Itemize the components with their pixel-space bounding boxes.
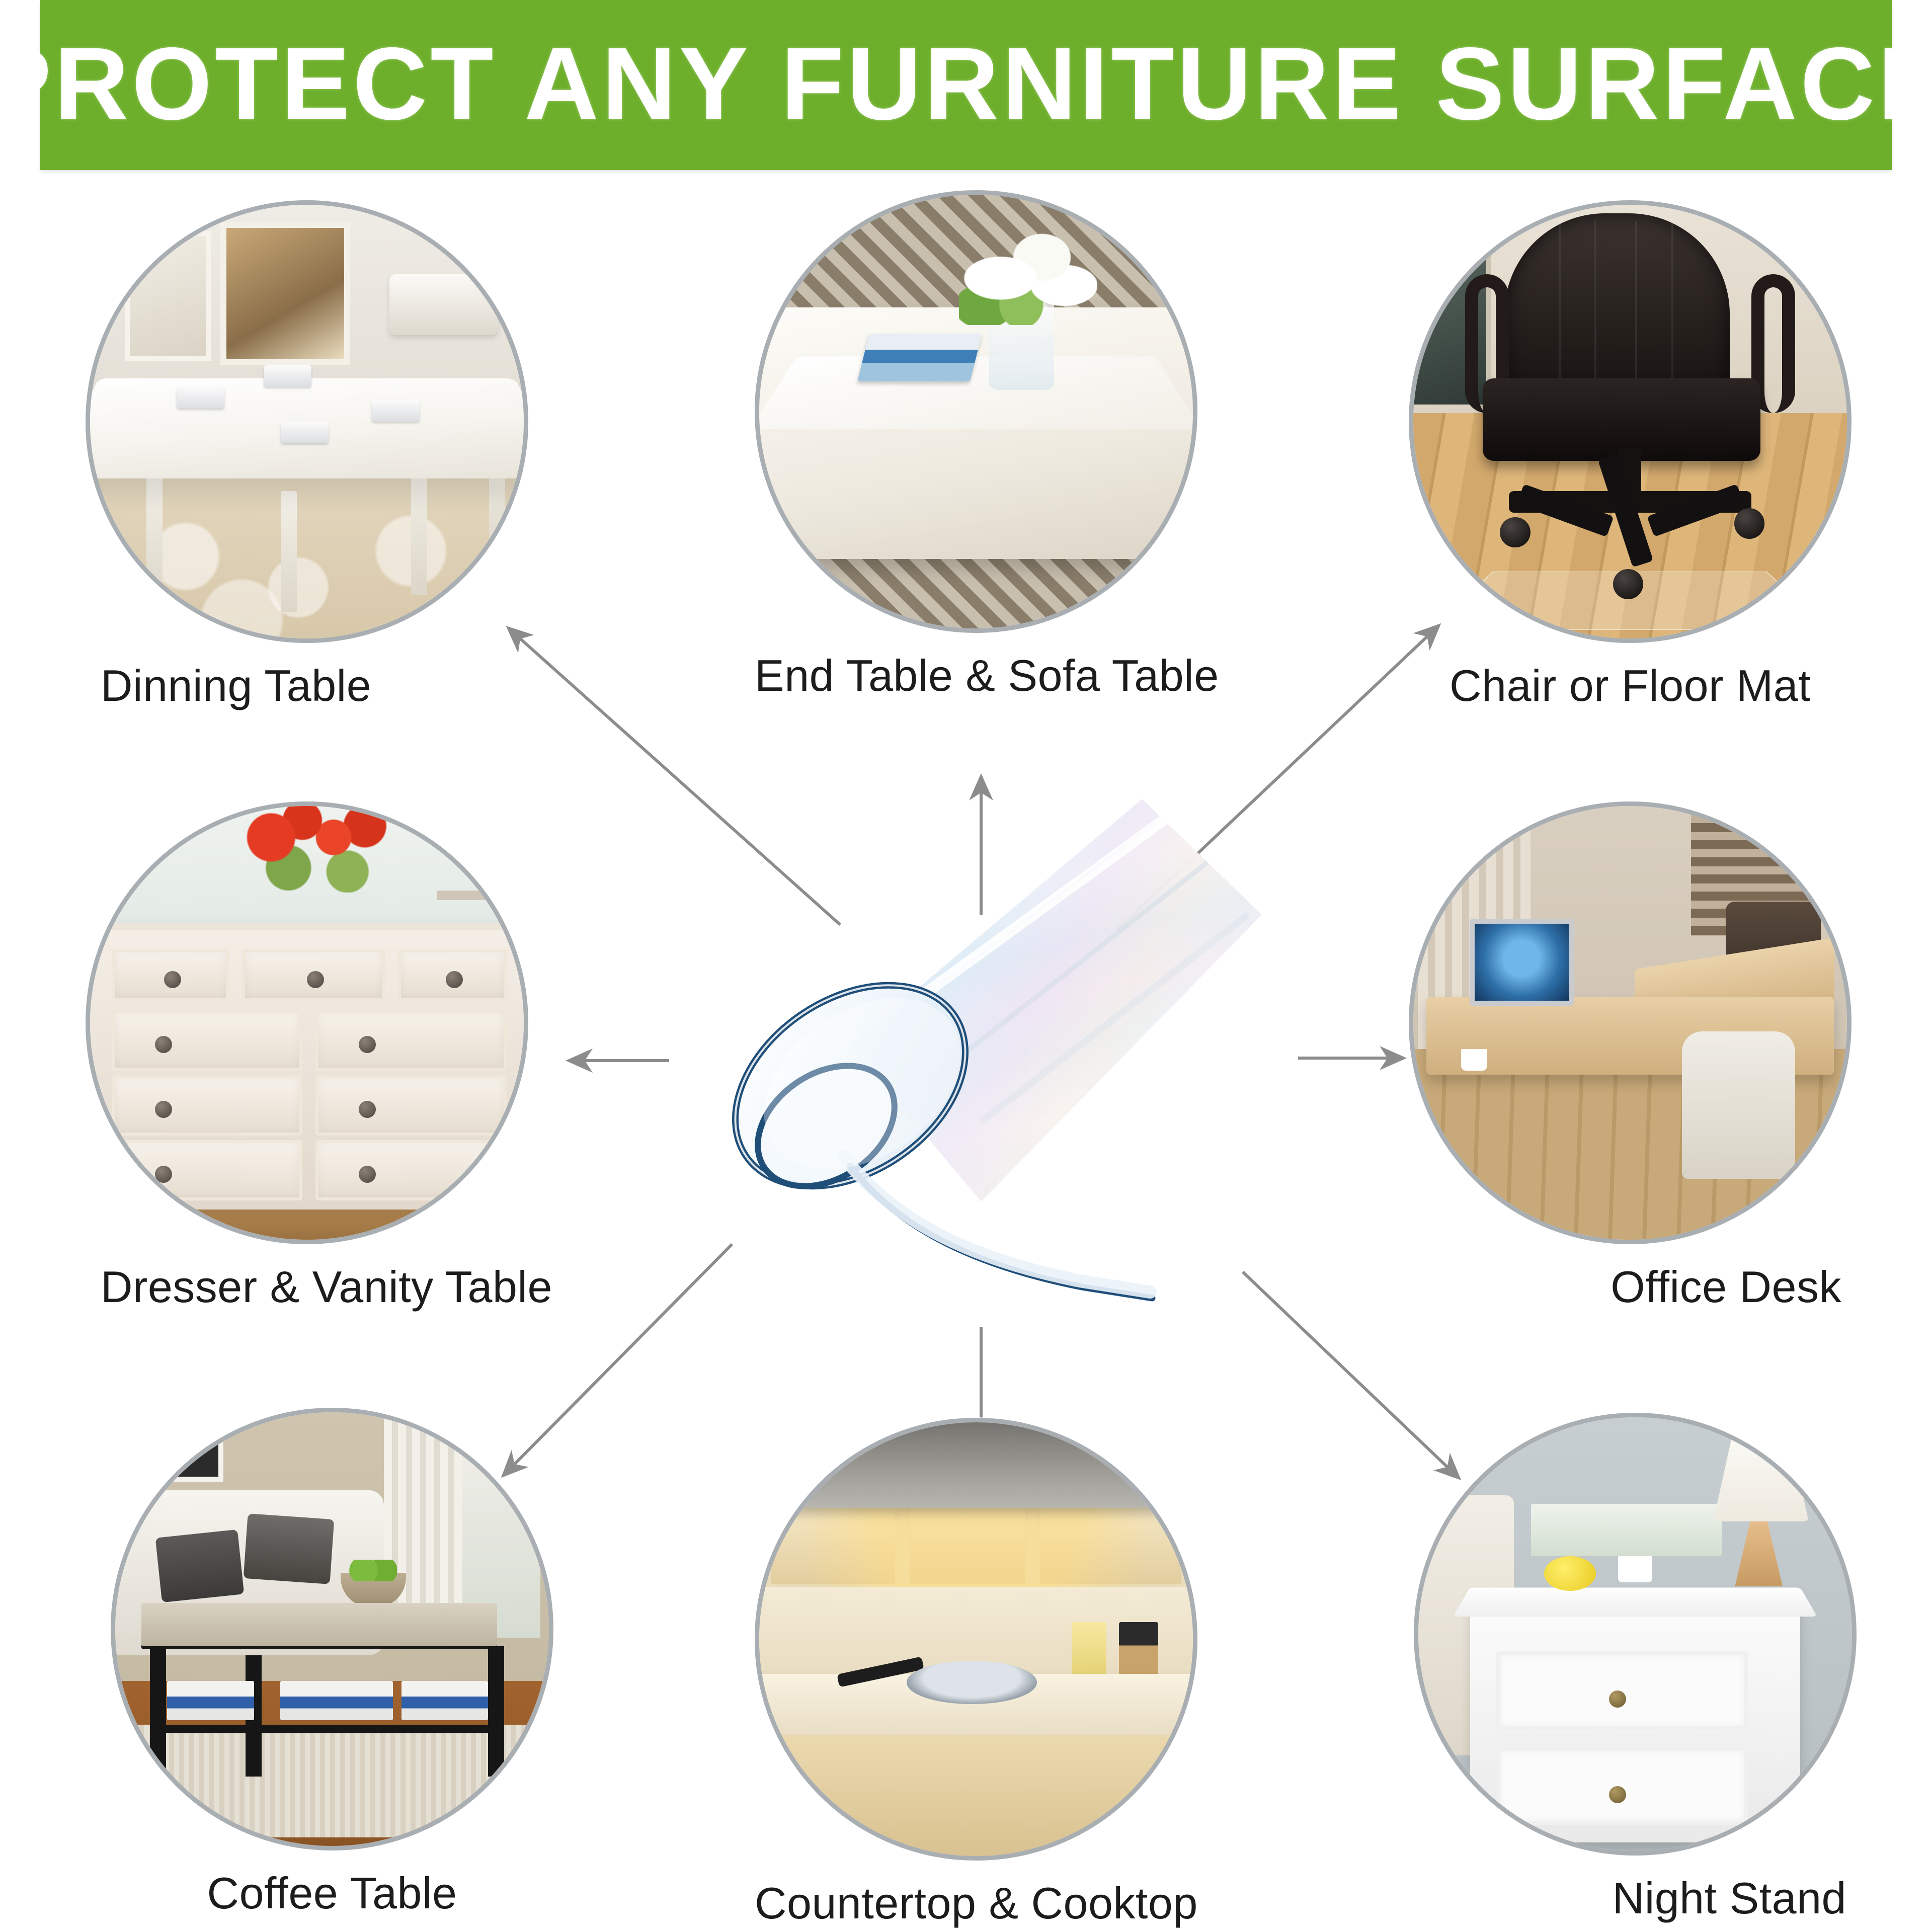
photo-office-desk[interactable]	[1409, 801, 1852, 1244]
scene-dining-room	[90, 205, 524, 638]
photo-chair-floor-mat[interactable]	[1409, 200, 1852, 643]
header-banner: PROTECT ANY FURNITURE SURFACE	[40, 0, 1892, 170]
scene-dresser	[90, 806, 524, 1240]
scene-coffee-table	[115, 1412, 549, 1846]
panel-dresser-vanity[interactable]: Dresser & Vanity Table	[86, 801, 552, 1313]
page-title: PROTECT ANY FURNITURE SURFACE	[0, 32, 1932, 138]
caption-dresser-vanity: Dresser & Vanity Table	[86, 1261, 552, 1313]
photo-night-stand[interactable]	[1414, 1413, 1857, 1856]
diagram-stage: Dinning Table End Table & Sofa Table	[0, 170, 1932, 1932]
caption-chair-floor-mat: Chair or Floor Mat	[1409, 660, 1852, 711]
caption-night-stand: Night Stand	[1414, 1873, 1857, 1924]
caption-coffee-table: Coffee Table	[111, 1868, 553, 1919]
panel-dinning-table[interactable]: Dinning Table	[86, 200, 528, 711]
photo-end-table[interactable]	[755, 190, 1197, 633]
scene-night-stand	[1418, 1417, 1852, 1851]
scene-office-chair	[1413, 205, 1847, 638]
caption-office-desk: Office Desk	[1409, 1261, 1852, 1313]
caption-countertop-cooktop: Countertop & Cooktop	[755, 1878, 1198, 1929]
photo-coffee-table[interactable]	[111, 1408, 553, 1850]
photo-dinning-table[interactable]	[86, 200, 528, 643]
scene-office-desk	[1413, 806, 1847, 1240]
panel-chair-floor-mat[interactable]: Chair or Floor Mat	[1409, 200, 1852, 711]
caption-dinning-table: Dinning Table	[86, 660, 528, 711]
photo-countertop-cooktop[interactable]	[755, 1418, 1197, 1861]
scene-end-table	[759, 195, 1193, 628]
scene-kitchen-countertop	[759, 1422, 1193, 1856]
caption-end-table: End Table & Sofa Table	[755, 650, 1219, 701]
panel-countertop-cooktop[interactable]: Countertop & Cooktop	[755, 1418, 1198, 1929]
center-product-pvc-roll[interactable]	[699, 764, 1263, 1327]
panel-office-desk[interactable]: Office Desk	[1409, 801, 1852, 1313]
panel-end-table[interactable]: End Table & Sofa Table	[755, 190, 1219, 701]
panel-coffee-table[interactable]: Coffee Table	[111, 1408, 553, 1919]
photo-dresser-vanity[interactable]	[86, 801, 528, 1244]
panel-night-stand[interactable]: Night Stand	[1414, 1413, 1857, 1924]
